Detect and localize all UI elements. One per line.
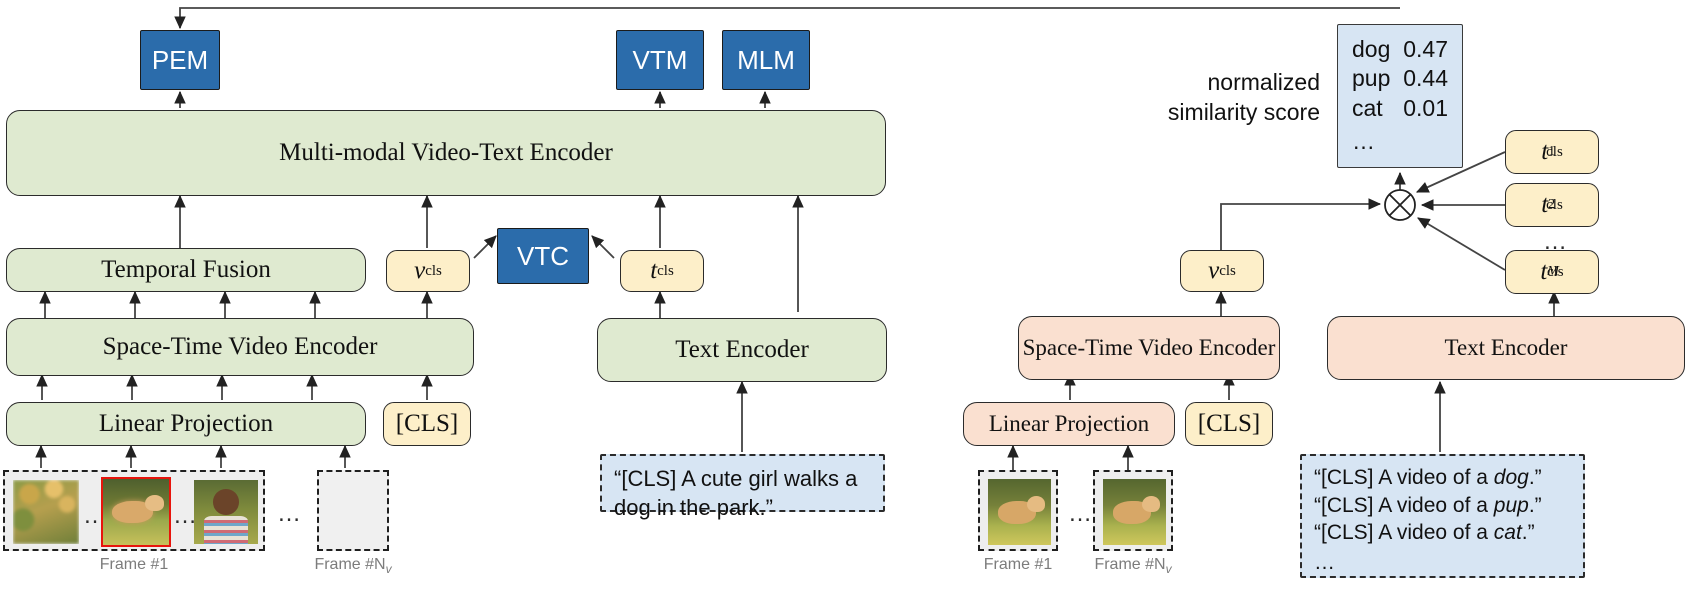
module-multimodal-video-text-encoder-label: Multi-modal Video-Text Encoder	[279, 139, 613, 167]
module-space-time-video-encoder[interactable]: Space-Time Video Encoder	[6, 318, 474, 376]
token-cls-right-label: [CLS]	[1198, 410, 1261, 438]
token-v-cls-base: v	[414, 257, 425, 285]
token-t-cls-m[interactable]: tMcls	[1505, 250, 1599, 294]
frame-group-left-1: … …	[3, 470, 265, 551]
objective-mlm[interactable]: MLM	[722, 30, 810, 90]
objective-vtm[interactable]: VTM	[616, 30, 704, 90]
module-linear-projection[interactable]: Linear Projection	[6, 402, 366, 446]
frame-group-right-1	[978, 470, 1058, 551]
token-t-cls-1[interactable]: t1cls	[1505, 130, 1599, 174]
text-prompt-right-ellipsis: …	[1314, 549, 1542, 577]
score-key-pup: pup	[1352, 64, 1403, 93]
token-t-cls-2-sub: cls	[1546, 197, 1563, 214]
frame-thumbnail-blurred-1[interactable]	[13, 480, 79, 544]
module-temporal-fusion[interactable]: Temporal Fusion	[6, 248, 366, 292]
module-text-encoder-right-label: Text Encoder	[1445, 335, 1568, 361]
frame-thumbnail-dog-selected[interactable]	[103, 479, 169, 545]
objective-vtc[interactable]: VTC	[497, 228, 589, 284]
token-v-cls-right-sub: cls	[1219, 263, 1236, 280]
token-v-cls-right-base: v	[1208, 257, 1219, 285]
score-value-pup: 0.44	[1403, 64, 1448, 93]
module-multimodal-video-text-encoder[interactable]: Multi-modal Video-Text Encoder	[6, 110, 886, 196]
multiply-operator-glyph	[1385, 190, 1415, 220]
frame-thumbnail-dog-right-1[interactable]	[988, 479, 1051, 545]
token-v-cls[interactable]: vcls	[386, 250, 470, 292]
objective-mlm-label: MLM	[737, 45, 795, 76]
module-linear-projection-label: Linear Projection	[99, 410, 273, 438]
token-t-cls-m-sub: cls	[1547, 264, 1564, 281]
token-t-cls-base: t	[650, 257, 657, 285]
module-temporal-fusion-label: Temporal Fusion	[101, 256, 271, 284]
token-v-cls-sub: cls	[425, 263, 442, 280]
module-space-time-video-encoder-right-label: Space-Time Video Encoder	[1023, 335, 1276, 361]
score-panel: dog 0.47 pup 0.44 cat 0.01 …	[1337, 24, 1463, 168]
text-prompt-right-line2: “[CLS] A video of a pup.”	[1314, 492, 1542, 520]
token-v-cls-right[interactable]: vcls	[1180, 250, 1264, 292]
frame-group-ellipsis-right: …	[1068, 500, 1094, 528]
score-key-dog: dog	[1352, 35, 1403, 64]
token-cls-label: [CLS]	[396, 410, 459, 438]
frame-caption-left-2: Frame #Nv	[293, 556, 413, 576]
frame-group-ellipsis-left: …	[277, 500, 303, 528]
text-prompt-right-line1: “[CLS] A video of a dog.”	[1314, 464, 1542, 492]
similarity-score-label-line2: similarity score	[1060, 98, 1320, 128]
score-row-ellipsis: …	[1352, 127, 1448, 156]
score-row: dog 0.47	[1352, 35, 1448, 64]
token-cls[interactable]: [CLS]	[383, 402, 471, 446]
text-prompt-right[interactable]: “[CLS] A video of a dog.” “[CLS] A video…	[1300, 454, 1585, 578]
objective-pem[interactable]: PEM	[140, 30, 220, 90]
similarity-score-label: normalized similarity score	[1060, 68, 1320, 128]
module-space-time-video-encoder-label: Space-Time Video Encoder	[103, 333, 378, 361]
token-t-cls[interactable]: tcls	[620, 250, 704, 292]
frame-group-right-2	[1093, 470, 1173, 551]
text-prompt-left-line1: “[CLS] A cute girl walks a	[614, 464, 857, 493]
text-prompt-left-line2: dog in the park.”	[614, 493, 857, 522]
score-key-cat: cat	[1352, 94, 1403, 123]
frame-caption-right-1: Frame #1	[958, 556, 1078, 574]
token-cls-right[interactable]: [CLS]	[1185, 402, 1273, 446]
similarity-score-label-line1: normalized	[1060, 68, 1320, 98]
module-space-time-video-encoder-right[interactable]: Space-Time Video Encoder	[1018, 316, 1280, 380]
token-t-cls-2[interactable]: t2cls	[1505, 183, 1599, 227]
frame-caption-right-2: Frame #Nv	[1073, 556, 1193, 576]
score-value-cat: 0.01	[1403, 94, 1448, 123]
module-linear-projection-right[interactable]: Linear Projection	[963, 402, 1175, 446]
text-prompt-right-line3: “[CLS] A video of a cat.”	[1314, 519, 1542, 547]
module-text-encoder[interactable]: Text Encoder	[597, 318, 887, 382]
frame-group-left-2	[317, 470, 389, 551]
objective-pem-label: PEM	[152, 45, 208, 76]
objective-vtm-label: VTM	[633, 45, 688, 76]
module-text-encoder-label: Text Encoder	[675, 336, 809, 364]
objective-vtc-label: VTC	[517, 241, 569, 272]
score-row: cat 0.01	[1352, 94, 1448, 123]
module-linear-projection-right-label: Linear Projection	[989, 411, 1149, 437]
module-text-encoder-right[interactable]: Text Encoder	[1327, 316, 1685, 380]
text-prompt-left[interactable]: “[CLS] A cute girl walks a dog in the pa…	[600, 454, 885, 512]
score-row: pup 0.44	[1352, 64, 1448, 93]
frame-caption-left-1: Frame #1	[74, 556, 194, 574]
score-value-dog: 0.47	[1403, 35, 1448, 64]
frame-thumbnail-dog-right-2[interactable]	[1103, 479, 1166, 545]
token-t-cls-1-sub: cls	[1546, 144, 1563, 161]
frame-thumbnail-girl[interactable]	[194, 480, 258, 544]
token-t-cls-sub: cls	[657, 263, 674, 280]
diagram-canvas: PEM VTM MLM VTC Multi-modal Video-Text E…	[0, 0, 1689, 609]
